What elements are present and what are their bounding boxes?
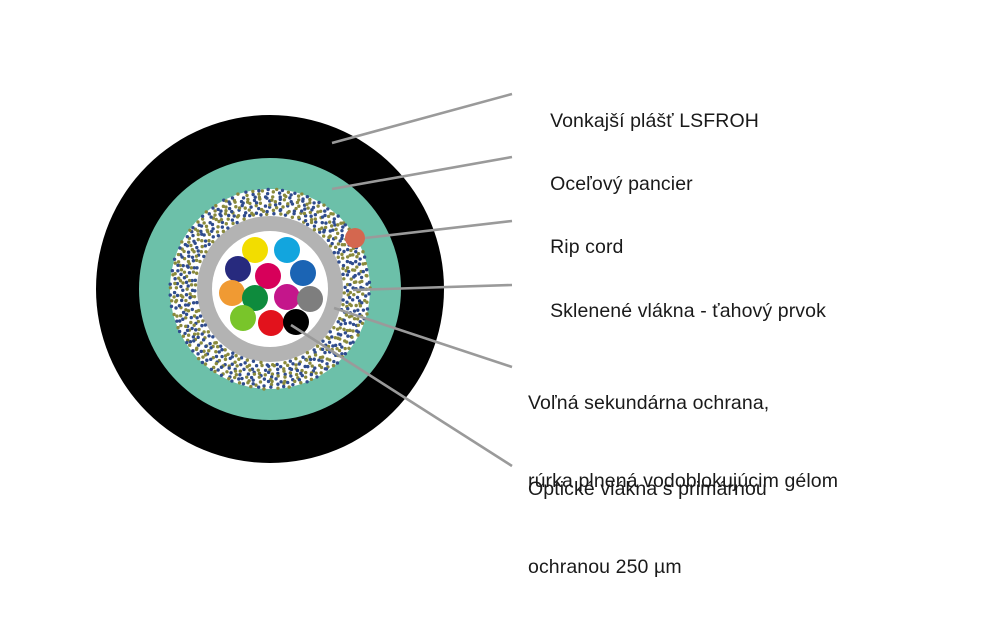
glass-yarn-dot [338, 349, 341, 352]
glass-yarn-dot [320, 366, 323, 369]
glass-yarn-dot [289, 374, 292, 377]
glass-yarn-dot [236, 192, 239, 195]
glass-yarn-dot [181, 289, 184, 292]
glass-yarn-dot [257, 192, 260, 195]
glass-yarn-dot [353, 309, 356, 312]
glass-yarn-dot [254, 196, 257, 199]
fiber-orange [219, 280, 245, 306]
glass-yarn-dot [293, 380, 296, 383]
glass-yarn-dot [191, 349, 194, 352]
glass-yarn-dot [226, 226, 229, 229]
label-optical-fibers-line2: ochranou 250 µm [528, 554, 767, 580]
glass-yarn-dot [238, 206, 241, 209]
glass-yarn-dot [180, 299, 183, 302]
glass-yarn-dot [185, 281, 188, 284]
glass-yarn-dot [194, 283, 197, 286]
glass-yarn-dot [279, 195, 282, 198]
glass-yarn-dot [348, 329, 351, 332]
glass-yarn-dot [195, 272, 198, 275]
glass-yarn-dot [264, 373, 267, 376]
glass-yarn-dot [342, 250, 345, 253]
glass-yarn-dot [294, 207, 297, 210]
glass-yarn-dot [259, 202, 262, 205]
glass-yarn-dot [274, 203, 277, 206]
glass-yarn-dot [273, 364, 276, 367]
glass-yarn-dot [361, 292, 364, 295]
glass-yarn-dot [342, 264, 345, 267]
glass-yarn-dot [306, 365, 309, 368]
glass-yarn-dot [261, 189, 264, 192]
glass-yarn-dot [174, 300, 177, 303]
glass-yarn-dot [266, 188, 269, 191]
glass-yarn-dot [346, 260, 349, 263]
glass-yarn-dot [328, 234, 331, 237]
glass-yarn-dot [204, 250, 207, 253]
glass-yarn-dot [338, 317, 341, 320]
glass-yarn-dot [216, 230, 219, 233]
glass-yarn-dot [262, 384, 265, 387]
glass-yarn-dot [191, 289, 194, 292]
glass-yarn-dot [306, 223, 309, 226]
glass-yarn-dot [186, 235, 189, 238]
glass-yarn-dot [330, 242, 333, 245]
glass-yarn-dot [214, 350, 217, 353]
glass-yarn-dot [297, 194, 300, 197]
glass-yarn-dot [251, 190, 254, 193]
glass-yarn-dot [341, 256, 344, 259]
glass-yarn-dot [356, 333, 359, 336]
glass-yarn-dot [279, 208, 282, 211]
glass-yarn-dot [184, 303, 187, 306]
fiber-cyan [274, 237, 300, 263]
glass-yarn-dot [197, 343, 200, 346]
glass-yarn-dot [218, 213, 221, 216]
glass-yarn-dot [189, 321, 192, 324]
glass-yarn-dot [337, 320, 340, 323]
glass-yarn-dot [367, 292, 370, 295]
glass-yarn-dot [283, 375, 286, 378]
glass-yarn-dot [175, 286, 178, 289]
glass-yarn-dot [198, 224, 201, 227]
glass-yarn-dot [187, 334, 190, 337]
glass-yarn-dot [231, 218, 234, 221]
glass-yarn-dot [204, 353, 207, 356]
glass-yarn-dot [352, 323, 355, 326]
glass-yarn-dot [303, 212, 306, 215]
glass-yarn-dot [205, 225, 208, 228]
glass-yarn-dot [308, 361, 311, 364]
glass-yarn-dot [360, 280, 363, 283]
glass-yarn-dot [182, 335, 185, 338]
glass-yarn-dot [300, 192, 303, 195]
glass-yarn-dot [246, 381, 249, 384]
glass-yarn-dot [354, 280, 357, 283]
glass-yarn-dot [252, 378, 255, 381]
glass-yarn-dot [357, 324, 360, 327]
leader-outer-jacket [332, 94, 512, 143]
glass-yarn-dot [297, 198, 300, 201]
glass-yarn-dot [174, 306, 177, 309]
glass-yarn-dot [342, 328, 345, 331]
glass-yarn-dot [224, 199, 227, 202]
glass-yarn-dot [188, 271, 191, 274]
glass-yarn-dot [251, 382, 254, 385]
glass-yarn-dot [249, 385, 252, 388]
glass-yarn-dot [207, 239, 210, 242]
glass-yarn-dot [341, 298, 344, 301]
glass-yarn-dot [260, 364, 263, 367]
glass-yarn-dot [233, 361, 236, 364]
glass-yarn-dot [192, 259, 195, 262]
glass-yarn-dot [327, 337, 330, 340]
glass-yarn-dot [309, 358, 312, 361]
glass-yarn-dot [343, 347, 346, 350]
glass-yarn-dot [351, 340, 354, 343]
glass-yarn-dot [201, 215, 204, 218]
glass-yarn-dot [249, 205, 252, 208]
glass-yarn-dot [341, 273, 344, 276]
glass-yarn-dot [172, 295, 175, 298]
glass-yarn-dot [322, 203, 325, 206]
glass-yarn-dot [340, 237, 343, 240]
glass-yarn-dot [220, 374, 223, 377]
glass-yarn-dot [304, 219, 307, 222]
glass-yarn-dot [185, 293, 188, 296]
glass-yarn-dot [228, 366, 231, 369]
glass-yarn-dot [255, 364, 258, 367]
glass-yarn-dot [283, 198, 286, 201]
glass-yarn-dot [364, 294, 367, 297]
glass-yarn-dot [192, 301, 195, 304]
fiber-grey [297, 286, 323, 312]
glass-yarn-dot [227, 377, 230, 380]
glass-yarn-dot [234, 205, 237, 208]
glass-yarn-dot [329, 330, 332, 333]
glass-yarn-dot [200, 250, 203, 253]
glass-yarn-dot [209, 346, 212, 349]
glass-yarn-dot [225, 370, 228, 373]
glass-yarn-dot [333, 251, 336, 254]
glass-yarn-dot [343, 319, 346, 322]
glass-yarn-dot [179, 314, 182, 317]
glass-yarn-dot [361, 250, 364, 253]
fiber-navy [225, 256, 251, 282]
label-loose-tube-line1: Voľná sekundárna ochrana, [528, 390, 838, 416]
cable-cross-section-diagram [0, 0, 1000, 572]
glass-yarn-dot [362, 308, 365, 311]
glass-yarn-dot [351, 262, 354, 265]
glass-yarn-dot [339, 333, 342, 336]
glass-yarn-dot [176, 294, 179, 297]
glass-yarn-dot [235, 373, 238, 376]
glass-yarn-dot [195, 310, 198, 313]
glass-yarn-dot [224, 358, 227, 361]
glass-yarn-dot [338, 337, 341, 340]
glass-yarn-dot [360, 276, 363, 279]
glass-yarn-dot [332, 221, 335, 224]
glass-yarn-dot [225, 222, 228, 225]
glass-yarn-dot [281, 205, 284, 208]
glass-yarn-dot [185, 287, 188, 290]
glass-yarn-dot [216, 208, 219, 211]
glass-yarn-dot [195, 246, 198, 249]
glass-yarn-dot [301, 356, 304, 359]
glass-yarn-dot [197, 328, 200, 331]
glass-yarn-dot [361, 322, 364, 325]
glass-yarn-dot [343, 291, 346, 294]
glass-yarn-dot [336, 251, 339, 254]
glass-yarn-dot [262, 387, 265, 390]
glass-yarn-dot [208, 342, 211, 345]
glass-yarn-dot [190, 266, 193, 269]
glass-yarn-dot [196, 352, 199, 355]
glass-yarn-dot [220, 348, 223, 351]
glass-yarn-dot [177, 253, 180, 256]
glass-yarn-dot [227, 217, 230, 220]
glass-yarn-dot [174, 261, 177, 264]
glass-yarn-dot [202, 255, 205, 258]
glass-yarn-dot [188, 229, 191, 232]
glass-yarn-dot [184, 325, 187, 328]
glass-yarn-dot [204, 362, 207, 365]
glass-yarn-dot [337, 242, 340, 245]
glass-yarn-dot [201, 319, 204, 322]
fiber-red [258, 310, 284, 336]
glass-yarn-dot [328, 358, 331, 361]
glass-yarn-dot [201, 361, 204, 364]
glass-yarn-dot [322, 234, 325, 237]
glass-yarn-dot [250, 212, 253, 215]
glass-yarn-dot [306, 351, 309, 354]
glass-yarn-dot [213, 370, 216, 373]
glass-yarn-dot [301, 374, 304, 377]
glass-yarn-dot [286, 364, 289, 367]
glass-yarn-dot [209, 215, 212, 218]
glass-yarn-dot [193, 295, 196, 298]
glass-yarn-dot [324, 226, 327, 229]
glass-yarn-dot [238, 381, 241, 384]
glass-yarn-dot [356, 296, 359, 299]
glass-yarn-dot [215, 355, 218, 358]
glass-yarn-dot [341, 267, 344, 270]
glass-yarn-dot [239, 369, 242, 372]
glass-yarn-dot [271, 195, 274, 198]
glass-yarn-dot [356, 317, 359, 320]
glass-yarn-dot [231, 222, 234, 225]
glass-yarn-dot [346, 273, 349, 276]
glass-yarn-dot [358, 262, 361, 265]
glass-yarn-dot [237, 377, 240, 380]
glass-yarn-dot [334, 236, 337, 239]
glass-yarn-dot [314, 213, 317, 216]
glass-yarn-dot [340, 253, 343, 256]
diagram-canvas: Vonkajší plášť LSFROH Oceľový pancier Ri… [0, 0, 1000, 572]
glass-yarn-dot [358, 257, 361, 260]
glass-yarn-dot [202, 221, 205, 224]
glass-yarn-dot [296, 369, 299, 372]
glass-yarn-dot [303, 207, 306, 210]
glass-yarn-dot [180, 268, 183, 271]
glass-yarn-dot [283, 361, 286, 364]
glass-yarn-dot [328, 220, 331, 223]
glass-yarn-dot [267, 365, 270, 368]
glass-yarn-dot [290, 368, 293, 371]
glass-yarn-dot [346, 266, 349, 269]
glass-yarn-dot [343, 286, 346, 289]
glass-yarn-dot [208, 221, 211, 224]
glass-yarn-dot [351, 329, 354, 332]
glass-yarn-dot [213, 341, 216, 344]
glass-yarn-dot [192, 240, 195, 243]
label-glass-yarn-text: Sklenené vlákna - ťahový prvok [550, 300, 826, 322]
glass-yarn-dot [187, 240, 190, 243]
glass-yarn-dot [188, 296, 191, 299]
glass-yarn-dot [267, 380, 270, 383]
glass-yarn-dot [312, 201, 315, 204]
glass-yarn-dot [173, 291, 176, 294]
glass-yarn-dot [355, 265, 358, 268]
glass-yarn-dot [172, 313, 175, 316]
glass-yarn-dot [213, 213, 216, 216]
glass-yarn-dot [195, 254, 198, 257]
glass-yarn-dot [306, 195, 309, 198]
glass-yarn-dot [229, 357, 232, 360]
glass-yarn-dot [283, 194, 286, 197]
glass-yarn-dot [185, 341, 188, 344]
fiber-light-green [230, 305, 256, 331]
glass-yarn-dot [257, 385, 260, 388]
glass-yarn-dot [252, 360, 255, 363]
glass-yarn-dot [337, 260, 340, 263]
fiber-crimson [255, 263, 281, 289]
glass-yarn-dot [204, 239, 207, 242]
glass-yarn-dot [181, 318, 184, 321]
glass-yarn-dot [297, 216, 300, 219]
glass-yarn-dot [340, 345, 343, 348]
glass-yarn-dot [192, 270, 195, 273]
glass-yarn-dot [333, 217, 336, 220]
glass-yarn-dot [200, 239, 203, 242]
glass-yarn-dot [246, 358, 249, 361]
glass-yarn-dot [259, 213, 262, 216]
glass-yarn-dot [214, 204, 217, 207]
glass-yarn-dot [345, 301, 348, 304]
glass-yarn-dot [287, 385, 290, 388]
glass-yarn-dot [332, 326, 335, 329]
glass-yarn-dot [368, 281, 371, 284]
glass-yarn-dot [230, 210, 233, 213]
glass-yarn-dot [334, 228, 337, 231]
glass-yarn-dot [348, 296, 351, 299]
glass-yarn-dot [205, 210, 208, 213]
glass-yarn-dot [245, 375, 248, 378]
glass-yarn-dot [364, 262, 367, 265]
glass-yarn-dot [169, 293, 172, 296]
glass-yarn-dot [188, 292, 191, 295]
glass-yarn-dot [224, 209, 227, 212]
glass-yarn-dot [321, 355, 324, 358]
glass-yarn-dot [312, 206, 315, 209]
glass-yarn-dot [359, 304, 362, 307]
glass-yarn-dot [207, 330, 210, 333]
glass-yarn-dot [336, 214, 339, 217]
glass-yarn-dot [215, 362, 218, 365]
glass-yarn-dot [197, 357, 200, 360]
glass-yarn-dot [276, 383, 279, 386]
glass-yarn-dot [334, 344, 337, 347]
glass-yarn-dot [196, 332, 199, 335]
glass-yarn-dot [195, 259, 198, 262]
glass-yarn-dot [229, 371, 232, 374]
glass-yarn-dot [365, 274, 368, 277]
glass-yarn-dot [353, 268, 356, 271]
glass-yarn-dot [257, 368, 260, 371]
glass-yarn-dot [293, 192, 296, 195]
glass-yarn-dot [188, 279, 191, 282]
glass-yarn-dot [211, 227, 214, 230]
glass-yarn-dot [204, 345, 207, 348]
glass-yarn-dot [201, 332, 204, 335]
glass-yarn-dot [299, 381, 302, 384]
glass-yarn-dot [228, 207, 231, 210]
glass-yarn-dot [323, 351, 326, 354]
glass-yarn-dot [216, 345, 219, 348]
glass-yarn-dot [297, 205, 300, 208]
glass-yarn-dot [291, 362, 294, 365]
glass-yarn-dot [344, 352, 347, 355]
glass-yarn-dot [340, 229, 343, 232]
glass-yarn-dot [346, 248, 349, 251]
glass-yarn-dot [314, 220, 317, 223]
glass-yarn-dot [173, 282, 176, 285]
glass-yarn-dot [177, 260, 180, 263]
glass-yarn-dot [279, 365, 282, 368]
glass-yarn-dot [258, 196, 261, 199]
glass-yarn-dot [347, 347, 350, 350]
glass-yarn-dot [336, 361, 339, 364]
glass-yarn-dot [221, 225, 224, 228]
glass-yarn-dot [310, 378, 313, 381]
glass-yarn-dot [248, 368, 251, 371]
glass-yarn-dot [278, 202, 281, 205]
glass-yarn-dot [313, 228, 316, 231]
glass-yarn-dot [316, 210, 319, 213]
glass-yarn-dot [220, 366, 223, 369]
glass-yarn-dot [344, 223, 347, 226]
glass-yarn-dot [184, 243, 187, 246]
glass-yarn-dot [192, 335, 195, 338]
glass-yarn-dot [304, 375, 307, 378]
glass-yarn-dot [291, 383, 294, 386]
glass-yarn-dot [313, 358, 316, 361]
glass-yarn-dot [306, 206, 309, 209]
glass-yarn-dot [235, 221, 238, 224]
glass-yarn-dot [246, 198, 249, 201]
glass-yarn-dot [217, 220, 220, 223]
glass-yarn-dot [177, 277, 180, 280]
glass-yarn-dot [362, 270, 365, 273]
glass-yarn-dot [264, 204, 267, 207]
glass-yarn-dot [211, 335, 214, 338]
glass-yarn-dot [291, 216, 294, 219]
glass-yarn-dot [175, 314, 178, 317]
glass-yarn-dot [314, 371, 317, 374]
glass-yarn-dot [206, 228, 209, 231]
glass-yarn-dot [231, 196, 234, 199]
glass-yarn-dot [238, 373, 241, 376]
glass-yarn-dot [346, 307, 349, 310]
glass-yarn-dot [282, 369, 285, 372]
